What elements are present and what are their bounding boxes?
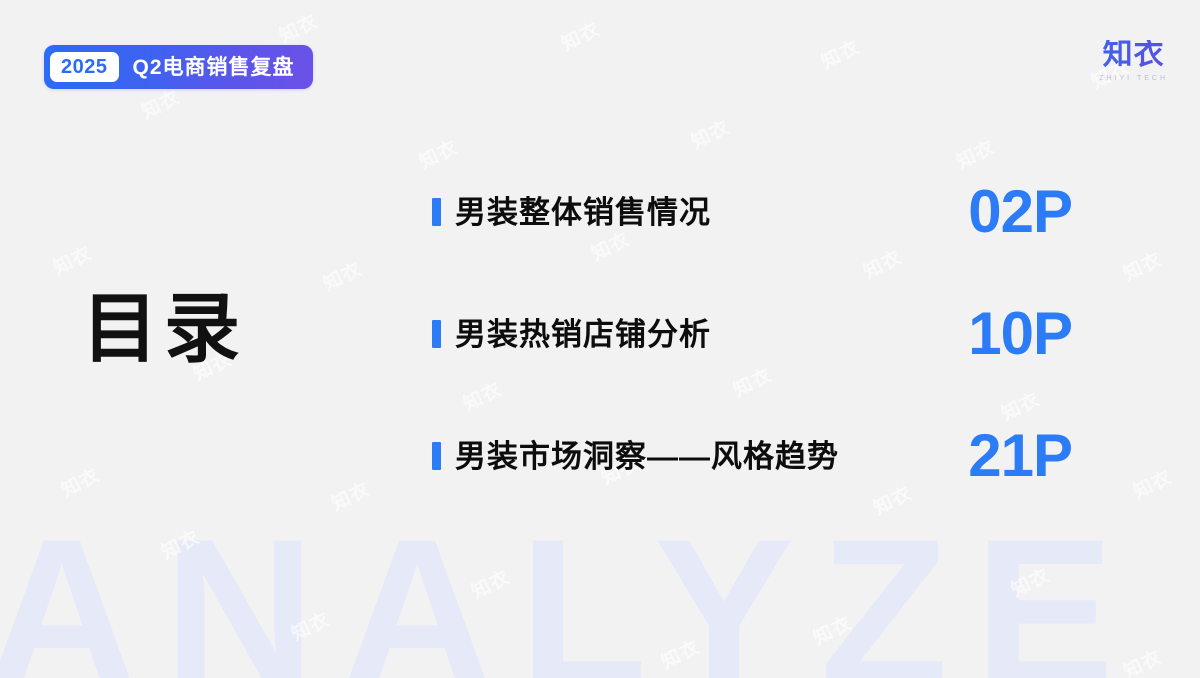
toc-item-3[interactable]: 男装市场洞察——风格趋势 21P bbox=[432, 420, 1072, 492]
table-of-contents: 男装整体销售情况 02P 男装热销店铺分析 10P 男装市场洞察——风格趋势 2… bbox=[432, 176, 1072, 492]
toc-item-page-number: 21P bbox=[968, 426, 1072, 486]
watermark: 知衣 bbox=[274, 7, 322, 49]
background-word-analyze: ANALYZE bbox=[0, 508, 1140, 678]
badge-year-label: 2025 bbox=[50, 52, 119, 82]
badge-title-label: Q2电商销售复盘 bbox=[133, 57, 295, 78]
watermark: 知衣 bbox=[951, 133, 999, 175]
toc-item-1[interactable]: 男装整体销售情况 02P bbox=[432, 176, 1072, 248]
watermark: 知衣 bbox=[816, 33, 864, 75]
watermark: 知衣 bbox=[414, 133, 462, 175]
toc-item-label: 男装热销店铺分析 bbox=[455, 319, 711, 350]
watermark: 知衣 bbox=[686, 113, 734, 155]
bullet-bar-icon bbox=[432, 198, 441, 226]
toc-item-label: 男装市场洞察——风格趋势 bbox=[455, 441, 839, 472]
bullet-bar-icon bbox=[432, 320, 441, 348]
toc-item-2[interactable]: 男装热销店铺分析 10P bbox=[432, 298, 1072, 370]
report-title-badge[interactable]: 2025 Q2电商销售复盘 bbox=[44, 45, 313, 89]
brand-logo-subtitle: ZHIYI TECH bbox=[1099, 75, 1168, 82]
watermark: 知衣 bbox=[48, 239, 96, 281]
slide-canvas: ANALYZE 知衣 知衣 知衣 知衣 知衣 知衣 知衣 知衣 知衣 知衣 知衣… bbox=[0, 0, 1200, 678]
brand-logo[interactable]: 知衣 ZHIYI TECH bbox=[1099, 40, 1168, 82]
toc-item-label: 男装整体销售情况 bbox=[455, 197, 711, 228]
watermark: 知衣 bbox=[318, 255, 366, 297]
watermark: 知衣 bbox=[1118, 245, 1166, 287]
toc-item-page-number: 02P bbox=[968, 182, 1072, 242]
bullet-bar-icon bbox=[432, 442, 441, 470]
brand-logo-mark: 知衣 bbox=[1099, 40, 1168, 70]
page-title: 目录 bbox=[82, 292, 246, 368]
watermark: 知衣 bbox=[556, 15, 604, 57]
toc-item-page-number: 10P bbox=[968, 304, 1072, 364]
